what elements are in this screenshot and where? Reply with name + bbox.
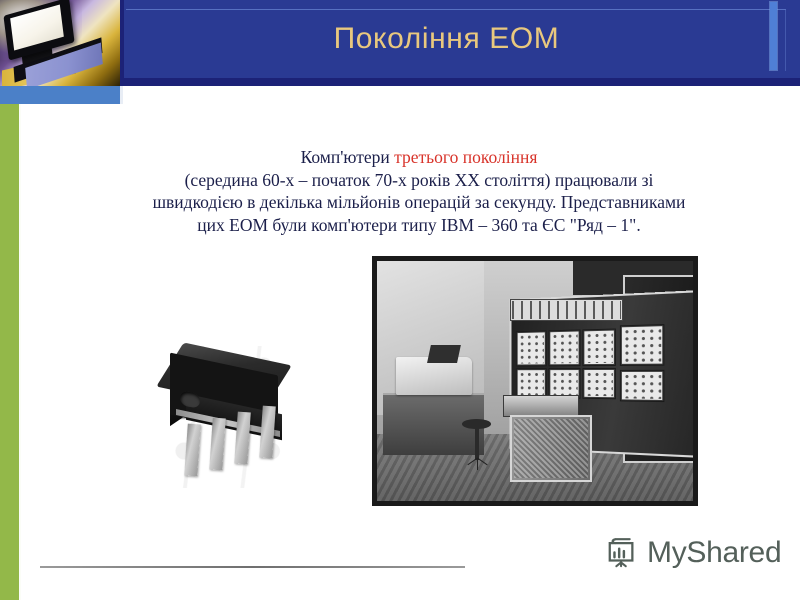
body-paragraph: Комп'ютери третього покоління (середина …: [60, 146, 778, 236]
body-line-1-accent: третього покоління: [394, 147, 537, 167]
page-title: Покоління ЕОМ: [124, 0, 769, 78]
photo-pedestal-unit: [510, 415, 592, 482]
body-line-3: швидкодією в декілька мільйонів операцій…: [60, 191, 778, 214]
body-line-1-plain: Комп'ютери: [301, 147, 395, 167]
computer-monitor-logo: [0, 0, 120, 86]
left-green-stripe: [0, 104, 19, 600]
left-blue-strip: [0, 86, 120, 104]
presentation-chart-icon: [606, 536, 638, 570]
left-blue-strip-edge: [120, 86, 123, 104]
photo-printer-teletype: [396, 357, 472, 395]
header-accent-bar: [770, 2, 777, 70]
body-line-2: (середина 60-х – початок 70-х років XX с…: [60, 169, 778, 192]
integrated-circuit-dip8-photo: [146, 332, 336, 502]
myshared-brand[interactable]: MyShared: [606, 536, 781, 570]
left-green-stripe-highlight: [19, 104, 21, 600]
body-line-1: Комп'ютери третього покоління: [60, 146, 778, 169]
mainframe-computer-room-photo: [372, 256, 698, 506]
brand-name: MyShared: [647, 536, 781, 570]
footer-divider: [40, 566, 465, 568]
slide-canvas: Покоління ЕОМ Комп'ютери третього поколі…: [0, 0, 800, 600]
photo-stool-legs: [459, 458, 494, 470]
body-line-4: цих ЕОМ були комп'ютери типу IBM – 360 т…: [60, 214, 778, 237]
photo-stool-post: [475, 427, 479, 461]
photo-control-strip: [510, 299, 624, 321]
mainframe-photo-inner: [377, 261, 693, 501]
